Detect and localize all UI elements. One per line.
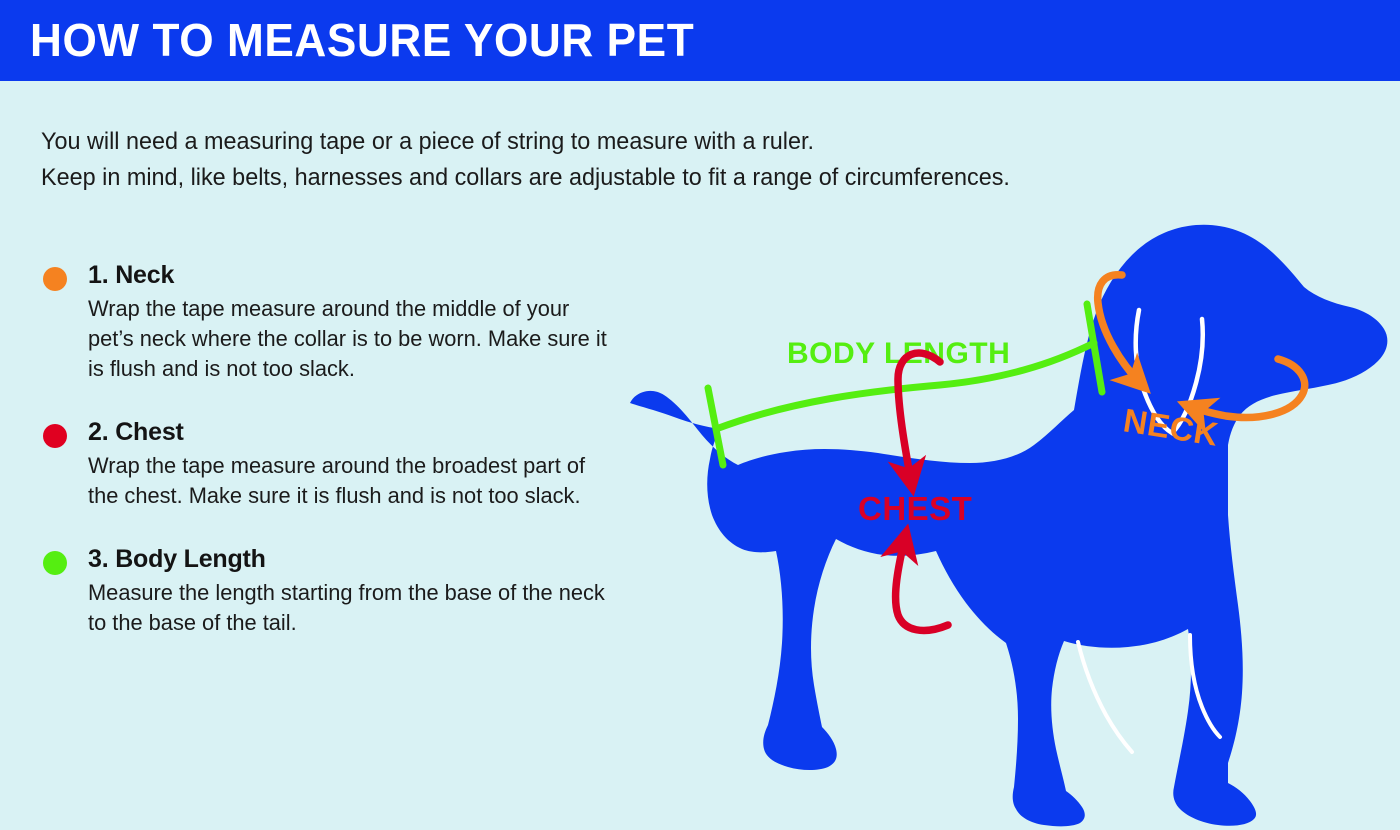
bullet-neck-icon — [43, 267, 67, 291]
step-body-chest: Wrap the tape measure around the broades… — [88, 451, 607, 511]
step-title-body-length: 3. Body Length — [88, 542, 641, 576]
dog-illustration: BODY LENGTH NECK — [610, 215, 1400, 830]
step-body-neck: Wrap the tape measure around the middle … — [88, 294, 607, 384]
intro-line-1: You will need a measuring tape or a piec… — [41, 124, 1235, 160]
list-item-body-length: 3. Body Length Measure the length starti… — [41, 542, 641, 638]
intro-line-2: Keep in mind, like belts, harnesses and … — [41, 160, 1235, 196]
measurement-steps-list: 1. Neck Wrap the tape measure around the… — [41, 258, 641, 663]
dog-silhouette-icon — [630, 225, 1387, 827]
bullet-chest-icon — [43, 424, 67, 448]
chest-label: CHEST — [858, 490, 972, 527]
list-item-neck: 1. Neck Wrap the tape measure around the… — [41, 258, 641, 384]
list-item-chest: 2. Chest Wrap the tape measure around th… — [41, 415, 641, 511]
header-bar: HOW TO MEASURE YOUR PET — [0, 0, 1400, 81]
step-title-chest: 2. Chest — [88, 415, 641, 449]
front-leg-shading-icon — [1078, 642, 1132, 752]
intro-paragraph: You will need a measuring tape or a piec… — [41, 124, 1291, 196]
infographic-page: HOW TO MEASURE YOUR PET You will need a … — [0, 0, 1400, 830]
step-title-neck: 1. Neck — [88, 258, 641, 292]
step-body-body-length: Measure the length starting from the bas… — [88, 578, 607, 638]
page-title: HOW TO MEASURE YOUR PET — [30, 14, 694, 66]
bullet-body-length-icon — [43, 551, 67, 575]
